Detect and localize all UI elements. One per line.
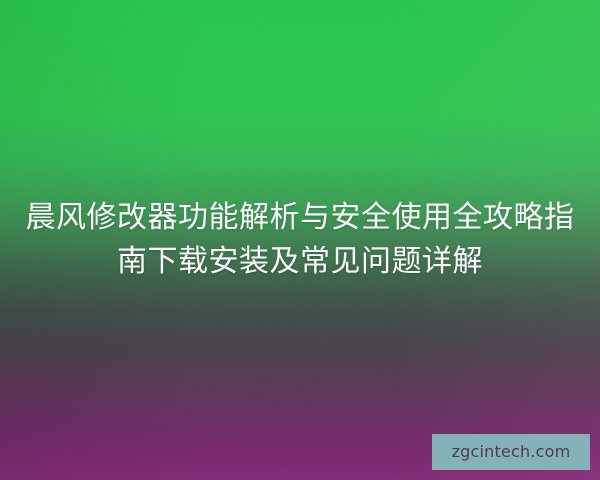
watermark-badge: zgcintech.com [432, 434, 590, 470]
watermark-label: zgcintech.com [452, 444, 571, 460]
page-title: 晨风修改器功能解析与安全使用全攻略指南下载安装及常见问题详解 [20, 196, 580, 284]
poster-title-block: 晨风修改器功能解析与安全使用全攻略指南下载安装及常见问题详解 [0, 196, 600, 284]
poster-canvas: 晨风修改器功能解析与安全使用全攻略指南下载安装及常见问题详解 zgcintech… [0, 0, 600, 480]
